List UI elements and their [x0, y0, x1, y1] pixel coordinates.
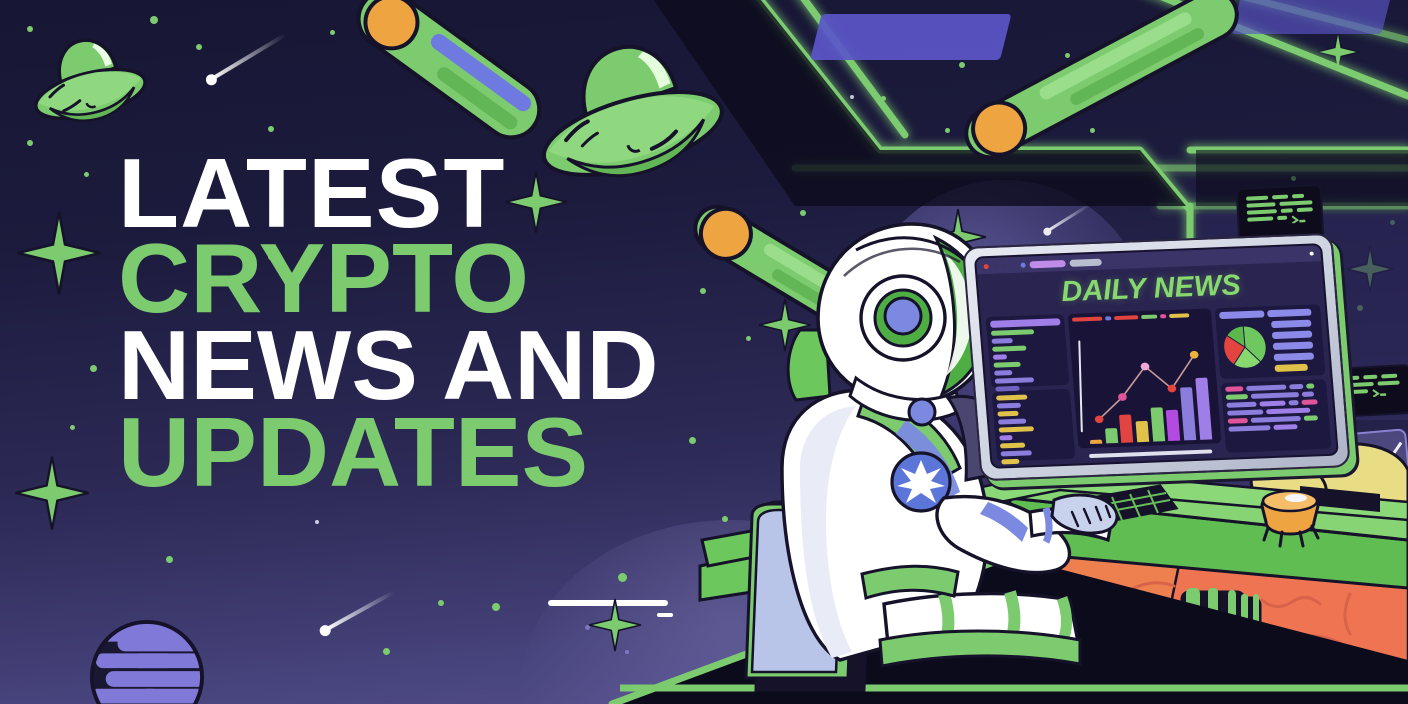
ticker-chip [1251, 415, 1301, 422]
terminal-cursor-icon [1291, 215, 1305, 224]
ticker-chip [1301, 399, 1317, 405]
pie-side-bars [1271, 319, 1321, 372]
terminal-row [1246, 200, 1312, 207]
data-line [991, 329, 1035, 336]
stats-lines [996, 392, 1072, 468]
legend-chip [1141, 314, 1157, 319]
legend-chip [1105, 316, 1111, 320]
ticker-chip [1246, 384, 1286, 391]
market-chart-panel[interactable] [1068, 308, 1222, 448]
data-line [995, 377, 1034, 383]
chart-plot-area [1073, 319, 1218, 445]
ticker-chip [1227, 409, 1263, 415]
data-line [1001, 458, 1020, 464]
data-line [994, 370, 1013, 376]
ticker-chip [1259, 400, 1285, 406]
legend-chip [1072, 317, 1102, 322]
line-series-points [1073, 319, 1218, 445]
dashboard-right-column [1215, 304, 1332, 453]
legend-chip [1114, 315, 1138, 320]
data-line [996, 394, 1027, 400]
data-line [993, 362, 1020, 368]
dashboard-chart-column [1068, 308, 1223, 458]
ticker-chip [1228, 418, 1248, 424]
ticker-chip [1302, 391, 1314, 396]
line-point [1190, 351, 1199, 359]
ticker-chip [1225, 386, 1243, 392]
comet-green-top [332, 0, 582, 150]
pie-side-bar [1274, 352, 1315, 361]
tab-indicator-dot [1020, 262, 1025, 267]
terminal-row [1246, 193, 1312, 200]
comet-green-right [940, 0, 1270, 170]
terminal-row [1247, 214, 1313, 225]
ticker-chip [1251, 392, 1299, 399]
terminal-row [1247, 207, 1313, 214]
pie-summary-panel[interactable] [1215, 304, 1326, 378]
ticker-chip [1289, 383, 1303, 389]
ticker-chip [1306, 383, 1314, 388]
address-pill[interactable] [1069, 258, 1102, 266]
article-lines [991, 328, 1066, 391]
pie-side-bar [1271, 319, 1312, 328]
header-chip [1219, 310, 1264, 319]
dashboard-body [980, 301, 1336, 467]
data-line [1000, 442, 1026, 448]
panel-header-bar [990, 318, 1061, 328]
window-dot-close[interactable] [983, 263, 988, 268]
ticker-table-panel[interactable] [1221, 379, 1332, 453]
ticker-chip [1228, 425, 1270, 432]
pie-chart [1220, 324, 1270, 372]
terminal-row [1340, 387, 1402, 398]
ticker-chip [1226, 401, 1256, 407]
chart-footer-bar [1089, 449, 1212, 458]
daily-news-monitor[interactable]: DAILY NEWS [962, 233, 1351, 481]
crypto-news-banner: DAILY NEWS [0, 0, 1408, 704]
ticker-chip [1266, 407, 1310, 414]
legend-chip [1169, 313, 1189, 318]
data-line [993, 354, 1007, 360]
dashboard-left-column [986, 314, 1076, 462]
ticker-chip [1226, 394, 1248, 400]
ticker-chip [1288, 400, 1298, 405]
window-dot-max[interactable] [1001, 263, 1006, 268]
legend-chip [1160, 314, 1166, 318]
stats-list-panel[interactable] [992, 388, 1076, 461]
pie-and-bars [1220, 318, 1321, 374]
window-dot-min[interactable] [992, 263, 997, 268]
data-line [991, 338, 1012, 344]
terminal-row [1339, 373, 1401, 380]
monitor-screen[interactable]: DAILY NEWS [974, 243, 1339, 469]
line-point [1095, 415, 1104, 423]
pie-side-bar [1274, 363, 1308, 371]
pie-side-bar [1273, 341, 1314, 350]
chrome-menu-dot[interactable] [1309, 251, 1313, 255]
data-line [992, 346, 1026, 352]
data-line [1000, 450, 1031, 456]
ticker-chip [1273, 424, 1297, 430]
header-chip [1267, 309, 1312, 318]
line-point [1167, 385, 1176, 393]
data-line [997, 410, 1018, 416]
data-line [998, 418, 1026, 424]
data-line [997, 402, 1021, 408]
pie-side-bar [1272, 330, 1313, 339]
headline-line-4: UPDATES [118, 407, 659, 498]
ufo-small [28, 32, 150, 136]
ticker-chip [1304, 415, 1318, 421]
line-point [1118, 393, 1127, 401]
pie-panel-header [1219, 308, 1317, 319]
page-title: LATEST CRYPTO NEWS AND UPDATES [118, 148, 648, 499]
address-pill-active[interactable] [1029, 260, 1066, 268]
terminal-cursor-icon [1372, 388, 1386, 397]
article-list-panel[interactable] [986, 314, 1070, 387]
data-line [999, 426, 1034, 432]
terminal-row [1340, 380, 1402, 387]
data-line [999, 435, 1012, 440]
ticker-lines [1225, 383, 1326, 432]
comet-green-mid [668, 190, 958, 380]
line-point [1140, 363, 1149, 371]
